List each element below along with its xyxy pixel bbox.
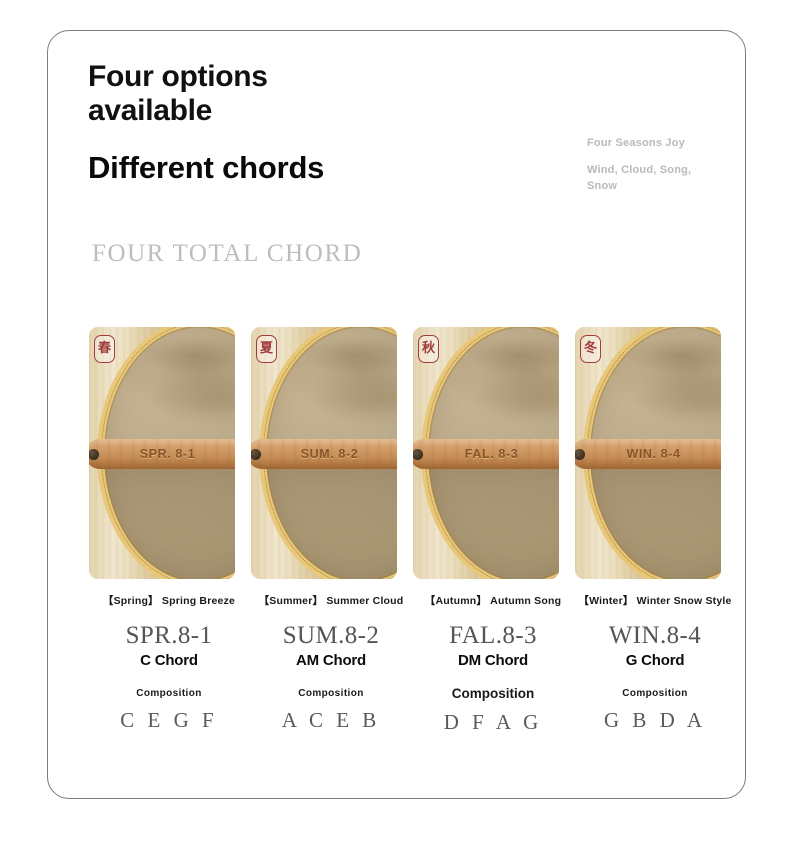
subheading: FOUR TOTAL CHORD <box>92 240 362 268</box>
card-text: 【Winter】 Winter Snow Style WIN.8-4 G Cho… <box>574 593 736 733</box>
season-label: 【Spring】 Spring Breeze <box>88 593 250 608</box>
wooden-rod: WIN. 8-4 <box>575 439 721 469</box>
composition-label: Composition <box>574 688 736 699</box>
composition-label: Composition <box>412 686 574 701</box>
model-code: SPR.8-1 <box>88 622 250 650</box>
rod-engraving-label: SPR. 8-1 <box>89 447 235 461</box>
wooden-rod: FAL. 8-3 <box>413 439 559 469</box>
chord-name: G Chord <box>574 652 736 669</box>
season-label: 【Winter】 Winter Snow Style <box>574 593 736 608</box>
chord-name: AM Chord <box>250 652 412 669</box>
heading-block: Four options available Different chords <box>88 60 518 185</box>
composition-notes: C E G F <box>88 708 250 733</box>
model-code: FAL.8-3 <box>412 622 574 650</box>
rod-engraving-label: SUM. 8-2 <box>251 447 397 461</box>
model-code: SUM.8-2 <box>250 622 412 650</box>
rod-engraving-label: WIN. 8-4 <box>575 447 721 461</box>
page-title: Four options available <box>88 60 518 127</box>
winter-seal-icon: 冬 <box>580 335 601 363</box>
rod-engraving-label: FAL. 8-3 <box>413 447 559 461</box>
heading-main: Different chords <box>88 151 518 185</box>
spring-seal-icon: 春 <box>94 335 115 363</box>
side-note-line-2: Wind, Cloud, Song, Snow <box>587 163 707 195</box>
heading-line-2: available <box>88 94 212 127</box>
card-text: 【Summer】 Summer Cloud SUM.8-2 AM Chord C… <box>250 593 412 733</box>
autumn-seal-icon: 秋 <box>418 335 439 363</box>
side-note: Four Seasons Joy Wind, Cloud, Song, Snow <box>587 136 707 195</box>
wooden-rod: SUM. 8-2 <box>251 439 397 469</box>
season-label: 【Summer】 Summer Cloud <box>250 593 412 608</box>
summer-seal-icon: 夏 <box>256 335 277 363</box>
product-photo: SPR. 8-1 春 <box>89 327 235 579</box>
product-photo: FAL. 8-3 秋 <box>413 327 559 579</box>
season-label: 【Autumn】 Autumn Song <box>412 593 574 608</box>
chord-card[interactable]: SPR. 8-1 春 【Spring】 Spring Breeze SPR.8-… <box>88 327 250 747</box>
card-text: 【Autumn】 Autumn Song FAL.8-3 DM Chord Co… <box>412 593 574 735</box>
product-infographic-page: Four options available Different chords … <box>0 0 790 863</box>
product-photo: SUM. 8-2 夏 <box>251 327 397 579</box>
chord-card[interactable]: WIN. 8-4 冬 【Winter】 Winter Snow Style WI… <box>574 327 736 747</box>
chord-name: DM Chord <box>412 652 574 669</box>
model-code: WIN.8-4 <box>574 622 736 650</box>
composition-notes: D F A G <box>412 710 574 735</box>
composition-label: Composition <box>250 688 412 699</box>
composition-label: Composition <box>88 688 250 699</box>
chord-card-list: SPR. 8-1 春 【Spring】 Spring Breeze SPR.8-… <box>88 327 736 747</box>
card-text: 【Spring】 Spring Breeze SPR.8-1 C Chord C… <box>88 593 250 733</box>
composition-notes: G B D A <box>574 708 736 733</box>
wooden-rod: SPR. 8-1 <box>89 439 235 469</box>
chord-card[interactable]: SUM. 8-2 夏 【Summer】 Summer Cloud SUM.8-2… <box>250 327 412 747</box>
heading-line-1: Four options <box>88 60 268 93</box>
chord-card[interactable]: FAL. 8-3 秋 【Autumn】 Autumn Song FAL.8-3 … <box>412 327 574 747</box>
side-note-line-1: Four Seasons Joy <box>587 136 707 152</box>
product-photo: WIN. 8-4 冬 <box>575 327 721 579</box>
composition-notes: A C E B <box>250 708 412 733</box>
chord-name: C Chord <box>88 652 250 669</box>
